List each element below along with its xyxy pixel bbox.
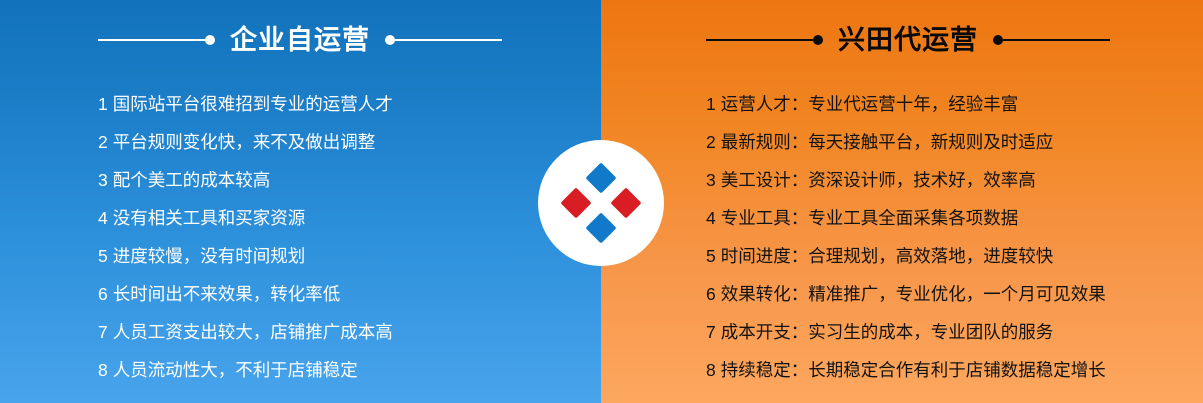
list-item-number: 4 — [98, 208, 108, 228]
list-item-text: 长时间出不来效果，转化率低 — [113, 284, 341, 304]
list-item: 6长时间出不来效果，转化率低 — [98, 275, 393, 313]
left-column-title: 企业自运营 — [215, 24, 385, 56]
list-item-number: 2 — [98, 132, 108, 152]
left-item-list: 1国际站平台很难招到专业的运营人才 2平台规则变化快，来不及做出调整 3配个美工… — [98, 85, 393, 389]
list-item: 7人员工资支出较大，店铺推广成本高 — [98, 313, 393, 351]
list-item-number: 5 — [98, 246, 108, 266]
list-item-text: 成本开支：实习生的成本，专业团队的服务 — [721, 322, 1054, 342]
list-item: 4专业工具：专业工具全面采集各项数据 — [706, 199, 1106, 237]
header-rule-right-icon — [993, 35, 1110, 45]
list-item: 2平台规则变化快，来不及做出调整 — [98, 123, 393, 161]
list-item-number: 7 — [98, 322, 108, 342]
list-item-number: 8 — [706, 360, 716, 380]
list-item: 6效果转化：精准推广，专业优化，一个月可见效果 — [706, 275, 1106, 313]
right-column-title: 兴田代运营 — [823, 24, 993, 56]
list-item: 7成本开支：实习生的成本，专业团队的服务 — [706, 313, 1106, 351]
list-item: 5时间进度：合理规划，高效落地，进度较快 — [706, 237, 1106, 275]
list-item: 3配个美工的成本较高 — [98, 161, 393, 199]
list-item-text: 美工设计：资深设计师，技术好，效率高 — [721, 170, 1036, 190]
diamond-top — [585, 162, 616, 193]
four-diamond-icon — [538, 140, 664, 266]
diamond-right — [610, 187, 641, 218]
list-item-text: 人员流动性大，不利于店铺稳定 — [113, 360, 358, 380]
right-column-header: 兴田代运营 — [706, 24, 1110, 56]
list-item-number: 2 — [706, 132, 716, 152]
left-column-header: 企业自运营 — [98, 24, 502, 56]
list-item-text: 国际站平台很难招到专业的运营人才 — [113, 94, 393, 114]
list-item-text: 进度较慢，没有时间规划 — [113, 246, 306, 266]
center-brand-logo — [538, 140, 664, 266]
diamond-bottom — [585, 212, 616, 243]
header-rule-right-icon — [385, 35, 502, 45]
list-item: 5进度较慢，没有时间规划 — [98, 237, 393, 275]
list-item: 8人员流动性大，不利于店铺稳定 — [98, 351, 393, 389]
list-item-text: 持续稳定：长期稳定合作有利于店铺数据稳定增长 — [721, 360, 1106, 380]
list-item-text: 专业工具：专业工具全面采集各项数据 — [721, 208, 1019, 228]
list-item-text: 平台规则变化快，来不及做出调整 — [113, 132, 376, 152]
list-item-number: 8 — [98, 360, 108, 380]
left-panel-self-operation: 企业自运营 1国际站平台很难招到专业的运营人才 2平台规则变化快，来不及做出调整… — [0, 0, 601, 403]
list-item-text: 时间进度：合理规划，高效落地，进度较快 — [721, 246, 1054, 266]
list-item-number: 4 — [706, 208, 716, 228]
list-item: 3美工设计：资深设计师，技术好，效率高 — [706, 161, 1106, 199]
list-item-number: 1 — [98, 94, 108, 114]
header-rule-left-icon — [706, 35, 823, 45]
list-item-text: 最新规则：每天接触平台，新规则及时适应 — [721, 132, 1054, 152]
list-item-text: 人员工资支出较大，店铺推广成本高 — [113, 322, 393, 342]
list-item: 1运营人才：专业代运营十年，经验丰富 — [706, 85, 1106, 123]
list-item-number: 3 — [706, 170, 716, 190]
list-item-number: 5 — [706, 246, 716, 266]
list-item: 8持续稳定：长期稳定合作有利于店铺数据稳定增长 — [706, 351, 1106, 389]
list-item: 4没有相关工具和买家资源 — [98, 199, 393, 237]
right-item-list: 1运营人才：专业代运营十年，经验丰富 2最新规则：每天接触平台，新规则及时适应 … — [706, 85, 1106, 389]
header-rule-left-icon — [98, 35, 215, 45]
comparison-banner: 企业自运营 1国际站平台很难招到专业的运营人才 2平台规则变化快，来不及做出调整… — [0, 0, 1203, 403]
right-panel-agency-operation: 兴田代运营 1运营人才：专业代运营十年，经验丰富 2最新规则：每天接触平台，新规… — [601, 0, 1203, 403]
list-item-text: 配个美工的成本较高 — [113, 170, 271, 190]
list-item-number: 1 — [706, 94, 716, 114]
list-item-text: 运营人才：专业代运营十年，经验丰富 — [721, 94, 1019, 114]
list-item-number: 6 — [98, 284, 108, 304]
list-item: 1国际站平台很难招到专业的运营人才 — [98, 85, 393, 123]
diamond-left — [560, 187, 591, 218]
list-item-number: 6 — [706, 284, 716, 304]
list-item-text: 没有相关工具和买家资源 — [113, 208, 306, 228]
list-item: 2最新规则：每天接触平台，新规则及时适应 — [706, 123, 1106, 161]
list-item-text: 效果转化：精准推广，专业优化，一个月可见效果 — [721, 284, 1106, 304]
list-item-number: 3 — [98, 170, 108, 190]
list-item-number: 7 — [706, 322, 716, 342]
